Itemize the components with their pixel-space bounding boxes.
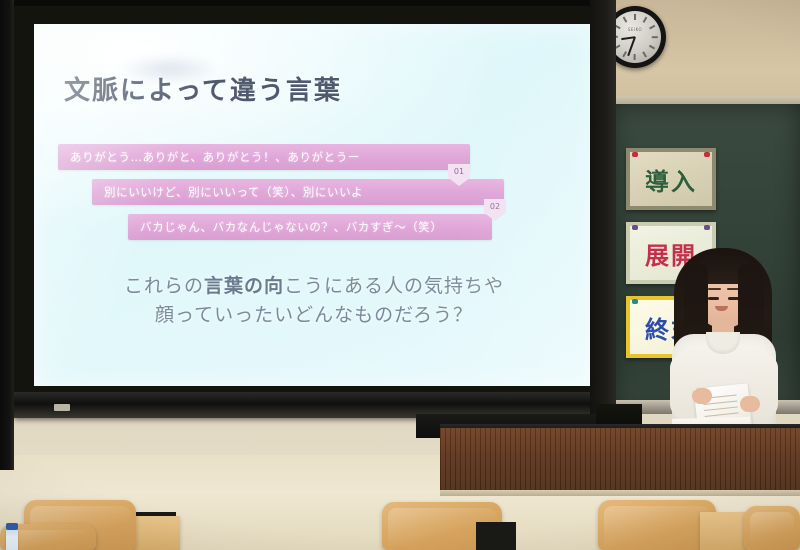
podium <box>440 428 800 496</box>
phrase-bar-1: ありがとう…ありがと、ありがとう！、ありがとうー <box>58 144 470 170</box>
clock-tick <box>649 45 655 49</box>
pin-magnet <box>704 225 710 230</box>
presenter-hand-right <box>740 396 760 412</box>
screen-top-edge <box>14 0 600 6</box>
slide-question-line-2: 顔っていったいどんなものだろう？ <box>34 301 594 330</box>
question-part-c: こうにある人の気持ちや <box>284 275 504 297</box>
phrase-bar-1-text: ありがとう…ありがと、ありがとう！、ありがとうー <box>70 149 360 165</box>
pin-magnet <box>632 299 638 304</box>
chair-highlight <box>604 506 710 550</box>
chair-highlight <box>6 530 90 550</box>
slide-question-line-1: これらの言葉の向こうにある人の気持ちや <box>34 272 594 301</box>
pin-magnet <box>632 225 638 230</box>
clock-tick <box>649 25 655 29</box>
clock-tick <box>643 17 647 23</box>
sign-label: 導入 <box>630 152 712 206</box>
presentation-slide: 文脈によって違う言葉 ありがとう…ありがと、ありがとう！、ありがとうー 別にいい… <box>34 24 594 386</box>
slide-question: これらの言葉の向こうにある人の気持ちや 顔っていったいどんなものだろう？ <box>34 272 594 329</box>
projection-screen-frame: 文脈によって違う言葉 ありがとう…ありがと、ありがとう！、ありがとうー 別にいい… <box>14 0 600 418</box>
water-bottle <box>6 528 18 550</box>
bottle-cap <box>6 523 18 530</box>
chair-highlight <box>750 512 794 550</box>
chair-3 <box>598 500 716 550</box>
question-part-b: 言葉の向 <box>204 275 284 297</box>
screen-right-post <box>590 0 616 430</box>
question-part-a: これらの <box>124 275 204 297</box>
presenter-eyebrow <box>708 288 721 290</box>
phrase-bar-3: バカじゃん、バカなんじゃないの？、バカすぎ〜（笑） <box>128 214 492 240</box>
chair-4 <box>744 506 800 550</box>
presenter-hand-left <box>692 388 712 404</box>
phrase-bar-2: 別にいいけど、別にいいって（笑）、別にいいよ <box>92 179 504 205</box>
presenter <box>668 246 778 432</box>
left-dark-edge <box>0 0 14 470</box>
clock-tick <box>652 36 658 38</box>
phrase-bar-3-text: バカじゃん、バカなんじゃないの？、バカすぎ〜（笑） <box>140 219 443 235</box>
desk-shadow <box>476 522 516 550</box>
slide-title: 文脈によって違う言葉 <box>64 70 342 107</box>
pin-magnet <box>704 152 710 157</box>
clock-tick <box>634 54 636 60</box>
presenter-eye <box>708 297 719 300</box>
blackboard-sign-1: 導入 <box>626 148 716 210</box>
clock-tick <box>623 17 627 23</box>
clock-face: SEIKO <box>609 11 661 63</box>
clock-tick <box>643 51 647 57</box>
clock-tick <box>634 14 636 20</box>
pin-magnet <box>632 152 638 157</box>
classroom-photo: SEIKO 導入 展開 <box>0 0 800 550</box>
clock-brand-label: SEIKO <box>628 27 642 32</box>
podium-base-edge <box>440 490 800 496</box>
phrase-bar-2-text: 別にいいけど、別にいいって（笑）、別にいいよ <box>104 184 363 200</box>
